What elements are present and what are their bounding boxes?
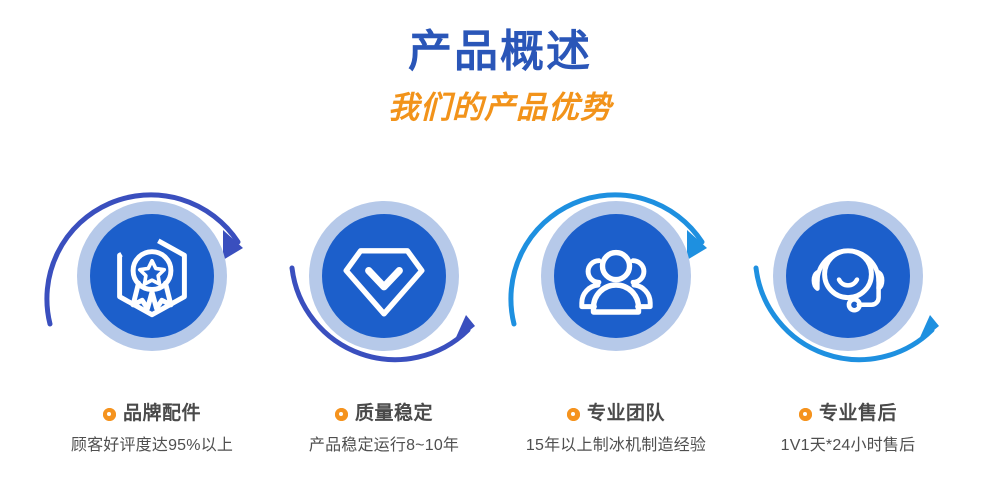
page-subtitle: 我们的产品优势 xyxy=(0,79,1000,127)
headset-support-icon xyxy=(803,231,893,321)
feature-description: 15年以上制冰机制造经验 xyxy=(496,435,736,457)
caption-title-row: 品牌配件 xyxy=(32,402,272,426)
feature-item-after-sales[interactable]: 专业售后 1V1天*24小时售后 xyxy=(734,168,962,468)
feature-badge xyxy=(270,168,498,396)
badge-star-shield-icon xyxy=(107,231,197,321)
feature-item-professional-team[interactable]: 专业团队 15年以上制冰机制造经验 xyxy=(502,168,730,468)
feature-title: 品牌配件 xyxy=(123,402,201,426)
diamond-check-icon xyxy=(339,231,429,321)
team-people-icon xyxy=(571,231,661,321)
feature-description: 1V1天*24小时售后 xyxy=(728,435,968,457)
page-header: 产品概述 我们的产品优势 xyxy=(0,0,1000,127)
feature-description: 顾客好评度达95%以上 xyxy=(32,435,272,457)
feature-caption: 质量稳定 产品稳定运行8~10年 xyxy=(264,402,504,457)
feature-item-brand-parts[interactable]: 品牌配件 顾客好评度达95%以上 xyxy=(38,168,266,468)
bullet-dot-icon xyxy=(335,408,348,421)
bullet-dot-icon xyxy=(103,408,116,421)
caption-title-row: 质量稳定 xyxy=(264,402,504,426)
feature-caption: 专业售后 1V1天*24小时售后 xyxy=(728,402,968,457)
feature-list: 品牌配件 顾客好评度达95%以上 质量稳定 产品稳定运行8~10年 xyxy=(0,168,1000,468)
feature-title: 专业售后 xyxy=(819,402,897,426)
feature-caption: 专业团队 15年以上制冰机制造经验 xyxy=(496,402,736,457)
caption-title-row: 专业团队 xyxy=(496,402,736,426)
feature-item-quality-stable[interactable]: 质量稳定 产品稳定运行8~10年 xyxy=(270,168,498,468)
feature-title: 专业团队 xyxy=(587,402,665,426)
feature-badge xyxy=(734,168,962,396)
feature-description: 产品稳定运行8~10年 xyxy=(264,435,504,457)
feature-title: 质量稳定 xyxy=(355,402,433,426)
caption-title-row: 专业售后 xyxy=(728,402,968,426)
page-title: 产品概述 xyxy=(0,0,1000,79)
feature-badge xyxy=(502,168,730,396)
feature-badge xyxy=(38,168,266,396)
bullet-dot-icon xyxy=(567,408,580,421)
bullet-dot-icon xyxy=(799,408,812,421)
feature-caption: 品牌配件 顾客好评度达95%以上 xyxy=(32,402,272,457)
